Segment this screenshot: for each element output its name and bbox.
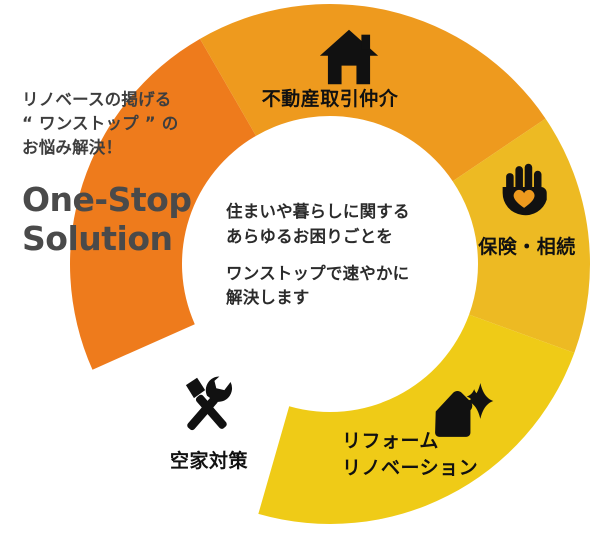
center-description-block: 住まいや暮らしに関する あらゆるお困りごとを ワンストップで速やかに 解決します — [226, 200, 441, 311]
segment-label-vacant-house: 空家対策 — [170, 449, 249, 472]
page-title: One-Stop Solution — [22, 180, 232, 259]
page-title-line-1: One-Stop — [22, 180, 232, 220]
center-paragraph-1: 住まいや暮らしに関する あらゆるお困りごとを — [226, 200, 441, 250]
page-title-line-2: Solution — [22, 219, 232, 259]
center-p1-line-2: あらゆるお困りごとを — [226, 227, 393, 246]
donut-segment-vacant-house[interactable] — [258, 315, 574, 524]
center-p1-line-1: 住まいや暮らしに関する — [226, 202, 410, 221]
segment-label-reform-renovation: リフォーム — [342, 430, 439, 452]
segment-label-reform-renovation: リノベーション — [342, 457, 478, 479]
lede-line-1: リノベースの掲げる — [22, 88, 232, 112]
lede-line-2: “ ワンストップ ” の — [22, 112, 232, 136]
tools-icon — [186, 376, 232, 431]
center-p2-line-1: ワンストップで速やかに — [226, 264, 409, 283]
left-headline-block: リノベースの掲げる “ ワンストップ ” の お悩み解決！ One-Stop S… — [22, 88, 232, 259]
segment-label-insurance-inheritance: 保険・相続 — [477, 235, 576, 258]
lede-line-3: お悩み解決！ — [22, 136, 232, 160]
segment-label-real-estate: 不動産取引仲介 — [262, 87, 399, 110]
center-paragraph-2: ワンストップで速やかに 解決します — [226, 262, 441, 312]
center-p2-line-2: 解決します — [226, 288, 310, 307]
diagram-root: 不動産取引仲介保険・相続リフォームリノベーション空家対策 リノベースの掲げる “… — [0, 0, 600, 533]
